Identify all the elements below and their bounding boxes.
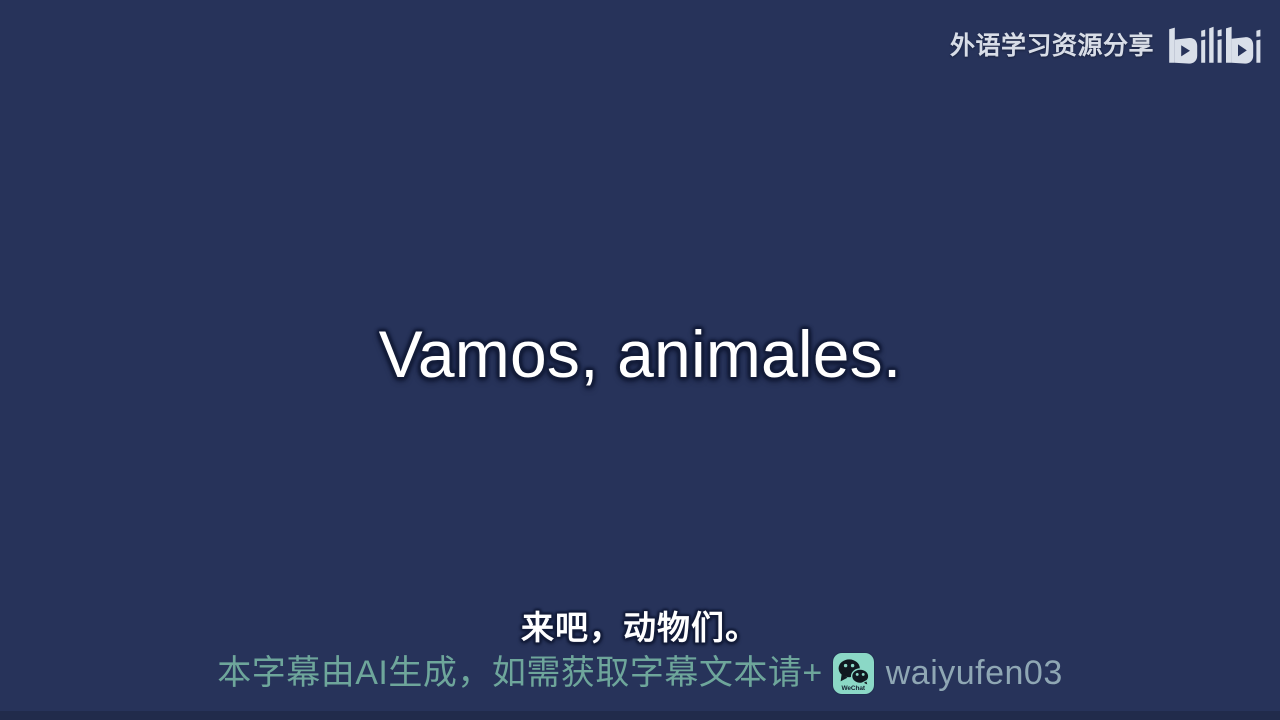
video-frame: 外语学习资源分享	[0, 0, 1280, 720]
wechat-handle-text: waiyufen03	[886, 654, 1063, 693]
credit-text: 本字幕由AI生成，如需获取字幕文本请+	[217, 654, 822, 693]
bottom-letterbox-band	[0, 711, 1280, 720]
bilibili-logo-icon	[1166, 26, 1262, 66]
wechat-icon: WeChat	[833, 653, 874, 694]
channel-name-text: 外语学习资源分享	[950, 34, 1154, 59]
credit-bar: 本字幕由AI生成，如需获取字幕文本请+	[0, 653, 1280, 694]
wechat-icon-wrapper: WeChat	[833, 653, 874, 694]
primary-subtitle: Vamos, animales.	[0, 318, 1280, 392]
wechat-badge-label: WeChat	[833, 686, 874, 693]
channel-watermark: 外语学习资源分享	[950, 26, 1262, 66]
translated-subtitle: 来吧，动物们。	[0, 608, 1280, 648]
